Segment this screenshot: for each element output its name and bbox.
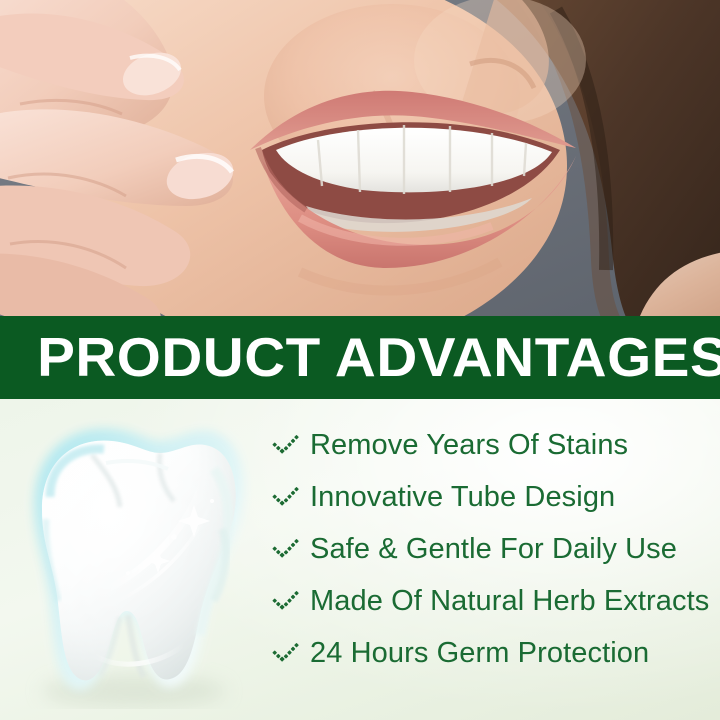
molar-tooth-icon	[8, 409, 258, 709]
advantage-label: 24 Hours Germ Protection	[310, 639, 649, 668]
page-title: PRODUCT ADVANTAGES	[0, 330, 720, 385]
dotted-check-icon	[272, 432, 302, 458]
advantage-label: Made Of Natural Herb Extracts	[310, 587, 709, 616]
product-advantages-banner: PRODUCT ADVANTAGES	[0, 316, 720, 399]
dotted-check-icon	[272, 484, 302, 510]
advantages-section: Remove Years Of Stains	[0, 399, 720, 720]
advantages-list: Remove Years Of Stains	[272, 419, 720, 679]
advantage-label: Innovative Tube Design	[310, 483, 615, 512]
list-item: 24 Hours Germ Protection	[272, 627, 720, 679]
list-item: Safe & Gentle For Daily Use	[272, 523, 720, 575]
advantage-label: Safe & Gentle For Daily Use	[310, 535, 677, 564]
dotted-check-icon	[272, 536, 302, 562]
smiling-woman-photo-illustration	[0, 0, 720, 316]
dotted-check-icon	[272, 640, 302, 666]
list-item: Remove Years Of Stains	[272, 419, 720, 471]
list-item: Innovative Tube Design	[272, 471, 720, 523]
list-item: Made Of Natural Herb Extracts	[272, 575, 720, 627]
product-advantages-poster: PRODUCT ADVANTAGES	[0, 0, 720, 720]
dotted-check-icon	[272, 588, 302, 614]
hero-photo	[0, 0, 720, 316]
advantage-label: Remove Years Of Stains	[310, 431, 628, 460]
tooth-graphic	[8, 409, 258, 709]
